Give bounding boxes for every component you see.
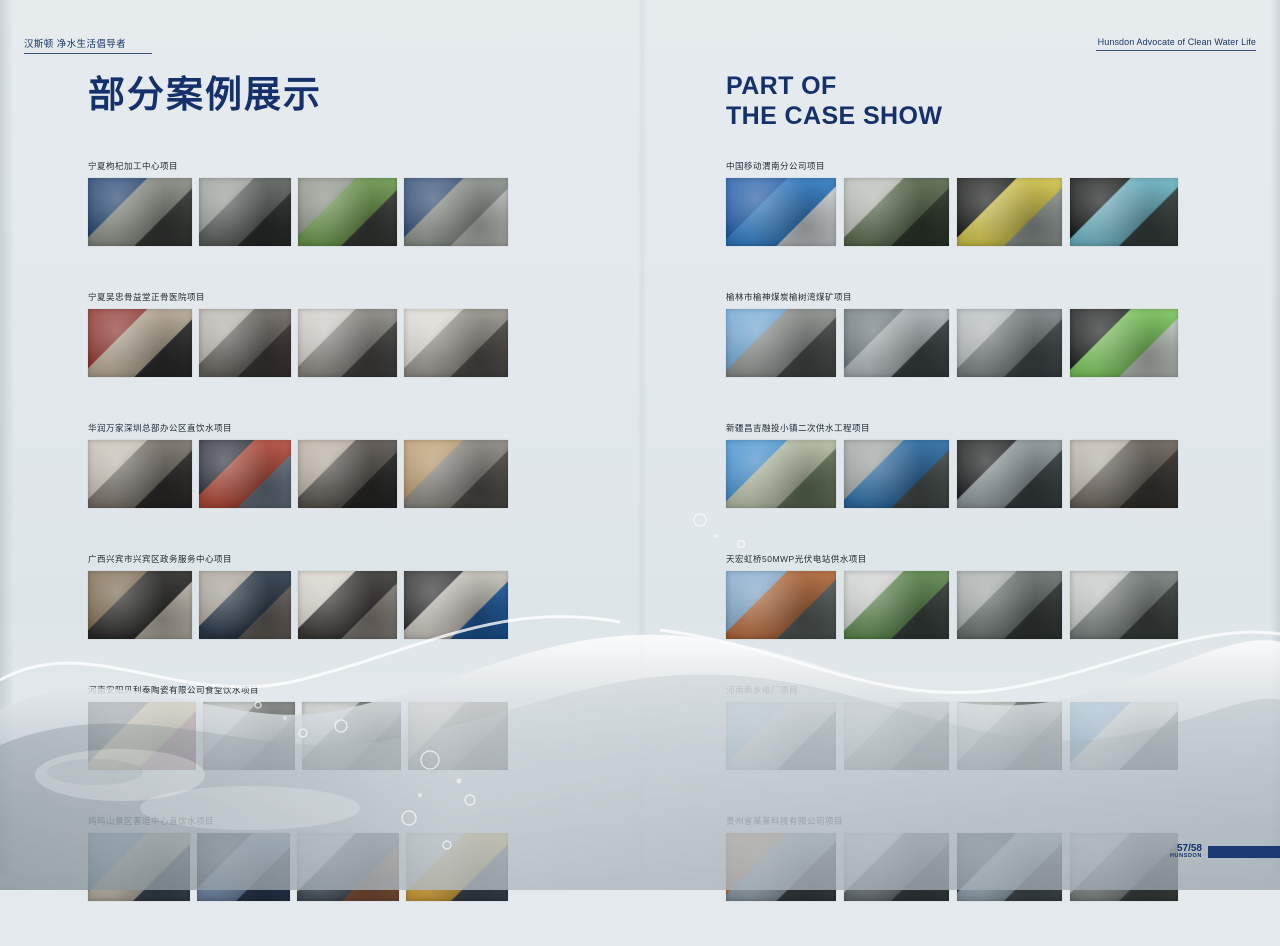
case-caption: 河南安阳贝利泰陶瓷有限公司食堂饮水项目: [88, 684, 508, 696]
case-caption: 中国移动渭南分公司项目: [726, 160, 1186, 172]
photo-gov-dispenser-row[interactable]: [404, 571, 508, 639]
photo-ceramic-ro-system[interactable]: [203, 702, 294, 770]
case-caption: 河南新乡电厂项目: [726, 684, 1186, 696]
photo-hospital-water-machine[interactable]: [298, 309, 397, 377]
case-block: 宁夏吴忠骨益堂正骨医院项目: [88, 291, 508, 377]
photo-texture: [957, 440, 1062, 508]
page-marker-bar: [1208, 846, 1280, 858]
photo-texture: [957, 178, 1062, 246]
photo-crv-filtration-panel[interactable]: [404, 440, 508, 508]
case-caption: 榆林市榆神煤炭榆树湾煤矿项目: [726, 291, 1186, 303]
photo-goji-corridor-equipment[interactable]: [199, 178, 291, 246]
photo-texture: [298, 309, 397, 377]
photo-texture: [88, 833, 190, 901]
photo-goji-station-canopy[interactable]: [404, 178, 508, 246]
photo-ceramic-night-building[interactable]: [88, 702, 196, 770]
case-caption: 宁夏枸杞加工中心项目: [88, 160, 508, 172]
case-photo-row: [726, 178, 1186, 246]
case-caption: 鸡鸣山景区客运中心直饮水项目: [88, 815, 508, 827]
case-caption: 新疆昌吉融投小镇二次供水工程项目: [726, 422, 1186, 434]
photo-texture: [726, 571, 836, 639]
photo-xinjiang-town-building[interactable]: [726, 440, 836, 508]
photo-solar-site-banner[interactable]: [726, 571, 836, 639]
photo-texture: [298, 178, 397, 246]
page-title-english: PART OF THE CASE SHOW: [726, 72, 942, 131]
photo-texture: [404, 178, 508, 246]
case-block: 河南新乡电厂项目: [726, 684, 1186, 770]
photo-hospital-storefront[interactable]: [88, 309, 192, 377]
photo-guizhou-control-room[interactable]: [1070, 833, 1178, 901]
photo-mine-scada-screen[interactable]: [1070, 309, 1178, 377]
photo-texture: [88, 178, 192, 246]
case-caption: 广西兴宾市兴宾区政务服务中心项目: [88, 553, 508, 565]
photo-cmcc-filter-tanks[interactable]: [844, 178, 949, 246]
photo-texture: [297, 833, 399, 901]
photo-texture: [844, 571, 949, 639]
case-photo-row: [88, 440, 508, 508]
photo-texture: [199, 571, 291, 639]
photo-power-plant-tower[interactable]: [726, 702, 836, 770]
photo-texture: [199, 440, 291, 508]
case-block: 鸡鸣山景区客运中心直饮水项目: [88, 815, 508, 901]
case-photo-row: [88, 702, 508, 770]
photo-ceramic-canteen-hall[interactable]: [408, 702, 508, 770]
brand-right: Hunsdon Advocate of Clean Water Life: [1096, 37, 1256, 51]
photo-texture: [302, 702, 402, 770]
photo-gov-wall-monitor[interactable]: [199, 571, 291, 639]
photo-texture: [1070, 571, 1178, 639]
photo-goji-green-dispenser[interactable]: [298, 178, 397, 246]
photo-texture: [1070, 178, 1178, 246]
brochure-page: 汉斯顿 净水生活倡导者 Hunsdon Advocate of Clean Wa…: [0, 0, 1280, 874]
photo-texture: [1070, 440, 1178, 508]
photo-texture: [404, 571, 508, 639]
page-title-english-line2: THE CASE SHOW: [726, 102, 942, 132]
photo-scenic-visitors-queue[interactable]: [297, 833, 399, 901]
page-number-group: 57/58 HUNSDON: [1170, 844, 1202, 860]
photo-xinjiang-pump-room[interactable]: [1070, 440, 1178, 508]
page-marker: 57/58 HUNSDON: [1170, 844, 1280, 860]
brand-left: 汉斯顿 净水生活倡导者: [24, 36, 152, 54]
photo-scenic-ticket-hall[interactable]: [197, 833, 290, 901]
photo-power-control-cabinet[interactable]: [844, 702, 949, 770]
photo-texture: [408, 702, 508, 770]
photo-texture: [404, 309, 508, 377]
page-right-edge-shadow: [1270, 0, 1280, 874]
case-photo-row: [88, 571, 508, 639]
photo-crv-office-dispenser[interactable]: [298, 440, 397, 508]
case-block: 华润万家深圳总部办公区直饮水项目: [88, 422, 508, 508]
photo-cmcc-reception-signboard[interactable]: [726, 178, 836, 246]
photo-mine-pressure-vessels[interactable]: [957, 309, 1062, 377]
case-photo-row: [726, 440, 1186, 508]
photo-texture: [88, 702, 196, 770]
photo-texture: [1070, 309, 1178, 377]
photo-cmcc-dispenser-dark[interactable]: [957, 178, 1062, 246]
photo-texture: [844, 702, 949, 770]
case-block: 贵州省某某科技有限公司项目: [726, 815, 1186, 901]
case-block: 河南安阳贝利泰陶瓷有限公司食堂饮水项目: [88, 684, 508, 770]
case-photo-row: [88, 178, 508, 246]
photo-guizhou-storage-tank[interactable]: [957, 833, 1062, 901]
photo-texture: [199, 178, 291, 246]
case-caption: 天宏虹桥50MWP光伏电站供水项目: [726, 553, 1186, 565]
photo-texture: [298, 440, 397, 508]
page-left-edge-shadow: [0, 0, 14, 874]
photo-texture: [1070, 702, 1178, 770]
case-caption: 宁夏吴忠骨益堂正骨医院项目: [88, 291, 508, 303]
photo-solar-ro-membrane[interactable]: [1070, 571, 1178, 639]
case-photo-row: [88, 309, 508, 377]
photo-gov-hall-counter[interactable]: [88, 571, 192, 639]
photo-texture: [88, 440, 192, 508]
photo-texture: [844, 833, 949, 901]
photo-texture: [88, 309, 192, 377]
case-column-left: 宁夏枸杞加工中心项目宁夏吴忠骨益堂正骨医院项目华润万家深圳总部办公区直饮水项目广…: [88, 160, 508, 946]
case-photo-row: [726, 833, 1186, 901]
photo-solar-treatment-skid[interactable]: [957, 571, 1062, 639]
photo-gov-wall-purifier[interactable]: [298, 571, 397, 639]
photo-texture: [957, 309, 1062, 377]
photo-power-filter-vessels[interactable]: [1070, 702, 1178, 770]
photo-texture: [726, 309, 836, 377]
photo-solar-green-filters[interactable]: [844, 571, 949, 639]
photo-goji-exterior-building[interactable]: [88, 178, 192, 246]
brand-left-rule: [24, 53, 152, 54]
photo-texture: [1070, 833, 1178, 901]
case-caption: 贵州省某某科技有限公司项目: [726, 815, 1186, 827]
photo-xinjiang-pump-control[interactable]: [844, 440, 949, 508]
photo-ceramic-filter-tanks[interactable]: [302, 702, 402, 770]
photo-mine-plant-exterior[interactable]: [726, 309, 836, 377]
photo-texture: [197, 833, 290, 901]
photo-guizhou-campus-building[interactable]: [726, 833, 836, 901]
photo-texture: [404, 440, 508, 508]
page-title-english-line1: PART OF: [726, 72, 942, 102]
case-block: 广西兴宾市兴宾区政务服务中心项目: [88, 553, 508, 639]
photo-texture: [298, 571, 397, 639]
photo-texture: [957, 571, 1062, 639]
photo-cmcc-control-panel[interactable]: [1070, 178, 1178, 246]
photo-scenic-center-exterior[interactable]: [88, 833, 190, 901]
page-spine-shadow: [637, 0, 647, 874]
case-block: 新疆昌吉融投小镇二次供水工程项目: [726, 422, 1186, 508]
brand-left-text: 汉斯顿 净水生活倡导者: [24, 36, 152, 50]
photo-texture: [726, 833, 836, 901]
footer-brand-mark: HUNSDON: [1170, 854, 1202, 860]
photo-power-softener-tanks[interactable]: [957, 702, 1062, 770]
brand-right-text: Hunsdon Advocate of Clean Water Life: [1096, 37, 1256, 47]
photo-texture: [844, 178, 949, 246]
photo-xinjiang-water-tanks[interactable]: [957, 440, 1062, 508]
case-photo-row: [726, 702, 1186, 770]
photo-texture: [726, 178, 836, 246]
photo-texture: [844, 440, 949, 508]
photo-crv-pantry-area[interactable]: [88, 440, 192, 508]
case-photo-row: [88, 833, 508, 901]
photo-mine-steel-water-tanks[interactable]: [844, 309, 949, 377]
photo-texture: [844, 309, 949, 377]
photo-texture: [199, 309, 291, 377]
photo-hospital-interior-wall[interactable]: [199, 309, 291, 377]
photo-texture: [88, 571, 192, 639]
case-block: 中国移动渭南分公司项目: [726, 160, 1186, 246]
photo-texture: [957, 833, 1062, 901]
photo-texture: [406, 833, 508, 901]
case-block: 宁夏枸杞加工中心项目: [88, 160, 508, 246]
photo-guizhou-membrane-rack[interactable]: [844, 833, 949, 901]
photo-texture: [957, 702, 1062, 770]
photo-hospital-purifier-unit[interactable]: [404, 309, 508, 377]
photo-texture: [203, 702, 294, 770]
case-photo-row: [726, 309, 1186, 377]
case-column-right: 中国移动渭南分公司项目榆林市榆神煤炭榆树湾煤矿项目新疆昌吉融投小镇二次供水工程项…: [726, 160, 1186, 946]
photo-scenic-water-station[interactable]: [406, 833, 508, 901]
case-photo-row: [726, 571, 1186, 639]
page-title-chinese: 部分案例展示: [88, 72, 322, 118]
brand-right-rule: [1096, 50, 1256, 51]
photo-texture: [726, 702, 836, 770]
photo-texture: [726, 440, 836, 508]
case-block: 天宏虹桥50MWP光伏电站供水项目: [726, 553, 1186, 639]
photo-crv-lobby-screen[interactable]: [199, 440, 291, 508]
case-block: 榆林市榆神煤炭榆树湾煤矿项目: [726, 291, 1186, 377]
case-caption: 华润万家深圳总部办公区直饮水项目: [88, 422, 508, 434]
